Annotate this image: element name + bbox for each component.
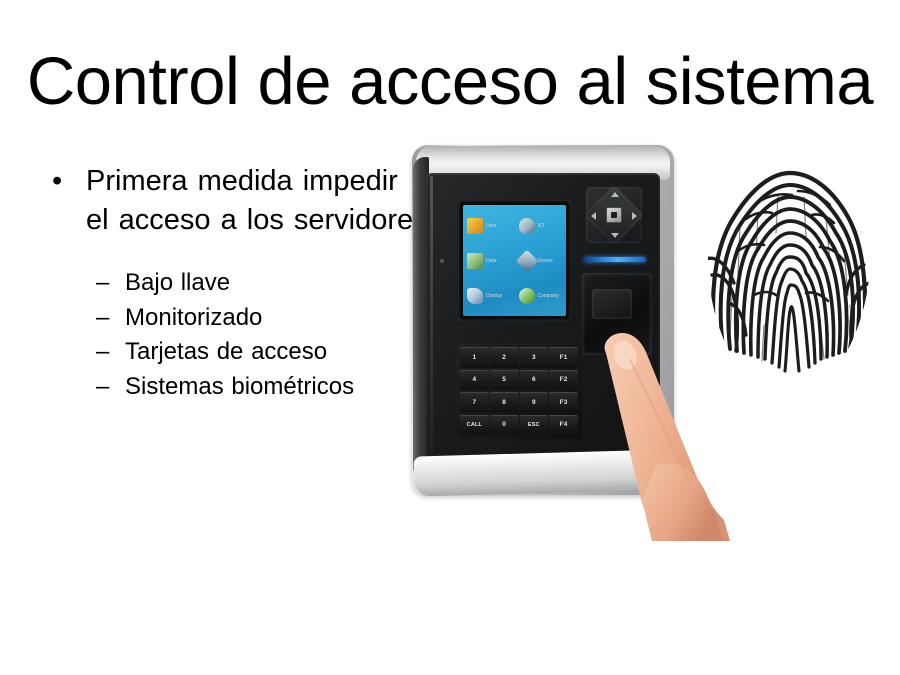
arrow-up-icon bbox=[611, 192, 619, 197]
blue-led-strip bbox=[584, 257, 646, 262]
lcd-menu-label: Company bbox=[538, 293, 559, 299]
key-f2: F2 bbox=[549, 370, 578, 391]
lcd-menu-item: I/O bbox=[515, 208, 567, 243]
arrow-right-icon bbox=[632, 212, 637, 220]
users-icon bbox=[467, 218, 483, 234]
report-icon bbox=[467, 288, 483, 304]
data-icon bbox=[467, 253, 483, 269]
lcd-menu-item: Data bbox=[463, 243, 515, 278]
navigation-dpad bbox=[586, 187, 642, 243]
lcd-menu-item: Display bbox=[463, 278, 515, 313]
list-item: – Bajo llave bbox=[96, 266, 430, 301]
key-2: 2 bbox=[490, 347, 519, 368]
diamond-icon bbox=[515, 249, 538, 272]
lcd-menu-item: Company bbox=[515, 278, 567, 313]
key-3: 3 bbox=[520, 347, 549, 368]
sub-bullet-text-sistemas-biometricos: Sistemas biométricos bbox=[125, 373, 354, 400]
key-0: 0 bbox=[490, 415, 519, 436]
bullet-item-primary: • Primera medida impedir el acceso a los… bbox=[40, 162, 430, 240]
key-f1: F1 bbox=[549, 347, 578, 368]
lcd-display-surface: User I/O Data Device bbox=[463, 205, 566, 316]
device-bottom-bezel bbox=[413, 449, 670, 496]
key-4: 4 bbox=[460, 370, 489, 391]
bullet-marker-dot: • bbox=[52, 162, 62, 201]
lcd-menu-label: Device bbox=[538, 258, 553, 264]
lcd-menu-label: Display bbox=[486, 293, 502, 299]
lcd-menu-grid: User I/O Data Device bbox=[463, 208, 566, 313]
list-item: – Tarjetas de acceso bbox=[96, 335, 430, 370]
fingerprint-sensor-window bbox=[582, 273, 652, 355]
sub-bullet-text-bajo-llave: Bajo llave bbox=[125, 269, 230, 296]
numeric-keypad: 1 2 3 F1 4 5 6 F2 7 8 9 F3 CALL 0 ESC F4 bbox=[456, 343, 582, 439]
presentation-slide: Control de acceso al sistema • Primera m… bbox=[0, 0, 900, 675]
sensor-plate bbox=[592, 289, 632, 319]
lcd-menu-label: Data bbox=[486, 258, 497, 264]
list-item: – Monitorizado bbox=[96, 301, 430, 336]
fingerprint-icon bbox=[694, 155, 884, 390]
key-f4: F4 bbox=[549, 415, 578, 436]
key-6: 6 bbox=[520, 370, 549, 391]
lcd-menu-item: Device bbox=[515, 243, 567, 278]
bullet-text-primary: Primera medida impedir el acceso a los s… bbox=[86, 165, 428, 236]
bullet-marker-dash: – bbox=[96, 301, 109, 336]
key-8: 8 bbox=[490, 392, 519, 413]
key-5: 5 bbox=[490, 370, 519, 391]
key-7: 7 bbox=[460, 392, 489, 413]
device-lcd-screen: User I/O Data Device bbox=[458, 200, 571, 321]
key-f3: F3 bbox=[549, 392, 578, 413]
arrow-left-icon bbox=[591, 212, 596, 220]
biometric-terminal-image: User I/O Data Device bbox=[404, 143, 690, 543]
key-call: CALL bbox=[460, 415, 489, 436]
bell-icon bbox=[519, 218, 535, 234]
key-9: 9 bbox=[520, 392, 549, 413]
list-item: – Sistemas biométricos bbox=[96, 370, 430, 405]
bullet-marker-dash: – bbox=[96, 266, 109, 301]
lcd-menu-label: I/O bbox=[538, 223, 545, 229]
sub-bullet-text-tarjetas-de-acceso: Tarjetas de acceso bbox=[125, 338, 327, 365]
key-1: 1 bbox=[460, 347, 489, 368]
sub-bullet-text-monitorizado: Monitorizado bbox=[125, 304, 262, 331]
slide-title: Control de acceso al sistema bbox=[0, 44, 900, 120]
lcd-menu-item: User bbox=[463, 208, 515, 243]
ok-button-icon bbox=[606, 207, 622, 223]
bullet-marker-dash: – bbox=[96, 370, 109, 405]
lcd-menu-label: User bbox=[486, 223, 497, 229]
arrow-down-icon bbox=[611, 233, 619, 238]
key-esc: ESC bbox=[520, 415, 549, 436]
slide-body-text: • Primera medida impedir el acceso a los… bbox=[40, 162, 430, 404]
status-led-icon bbox=[440, 259, 444, 263]
sub-bullet-list: – Bajo llave – Monitorizado – Tarjetas d… bbox=[40, 266, 430, 404]
bullet-marker-dash: – bbox=[96, 335, 109, 370]
globe-icon bbox=[519, 288, 535, 304]
